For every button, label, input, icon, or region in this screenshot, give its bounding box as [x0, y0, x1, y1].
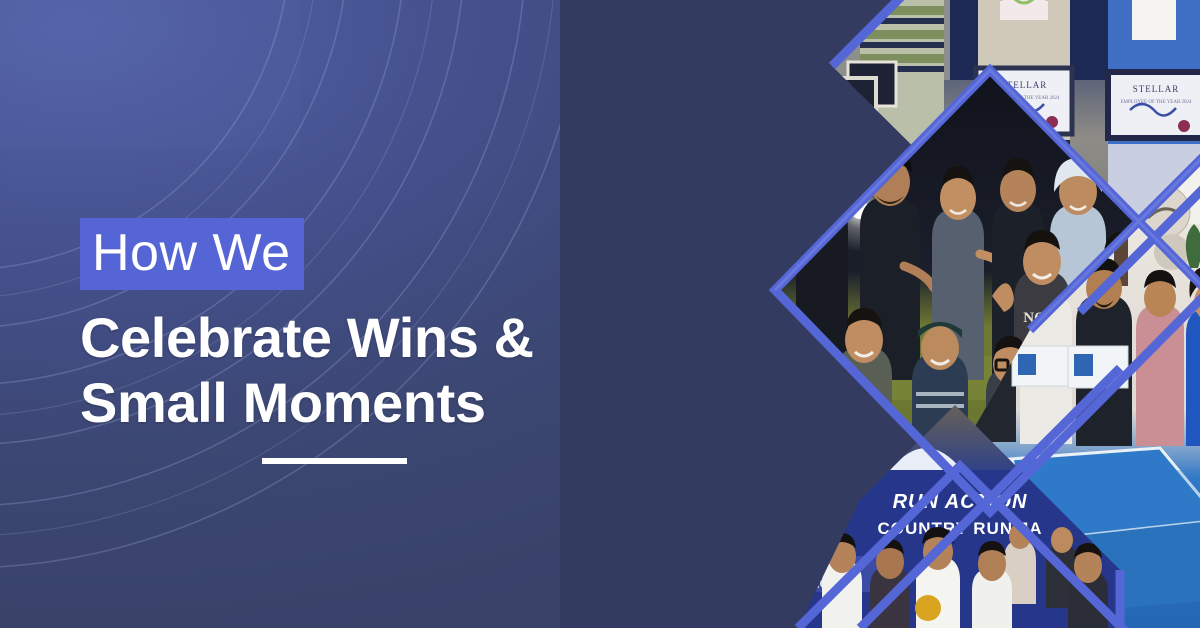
kicker-text: How We — [80, 218, 304, 290]
kicker-wrap: How We — [80, 218, 304, 290]
title-line-2: Small Moments — [80, 371, 534, 434]
banner-root: EMPLOYEE OF THE YEAR AWARDS (STELLAR) — [0, 0, 1200, 628]
svg-text:EMPLOYEE OF THE YEAR 2024: EMPLOYEE OF THE YEAR 2024 — [1120, 100, 1192, 105]
photo-collage: EMPLOYEE OF THE YEAR AWARDS (STELLAR) — [560, 0, 1200, 628]
headline-block: How We Celebrate Wins & Small Moments — [80, 218, 534, 464]
title-underline-rule — [262, 458, 407, 464]
svg-text:STELLAR: STELLAR — [1133, 84, 1180, 94]
title-line-1: Celebrate Wins & — [80, 306, 534, 369]
